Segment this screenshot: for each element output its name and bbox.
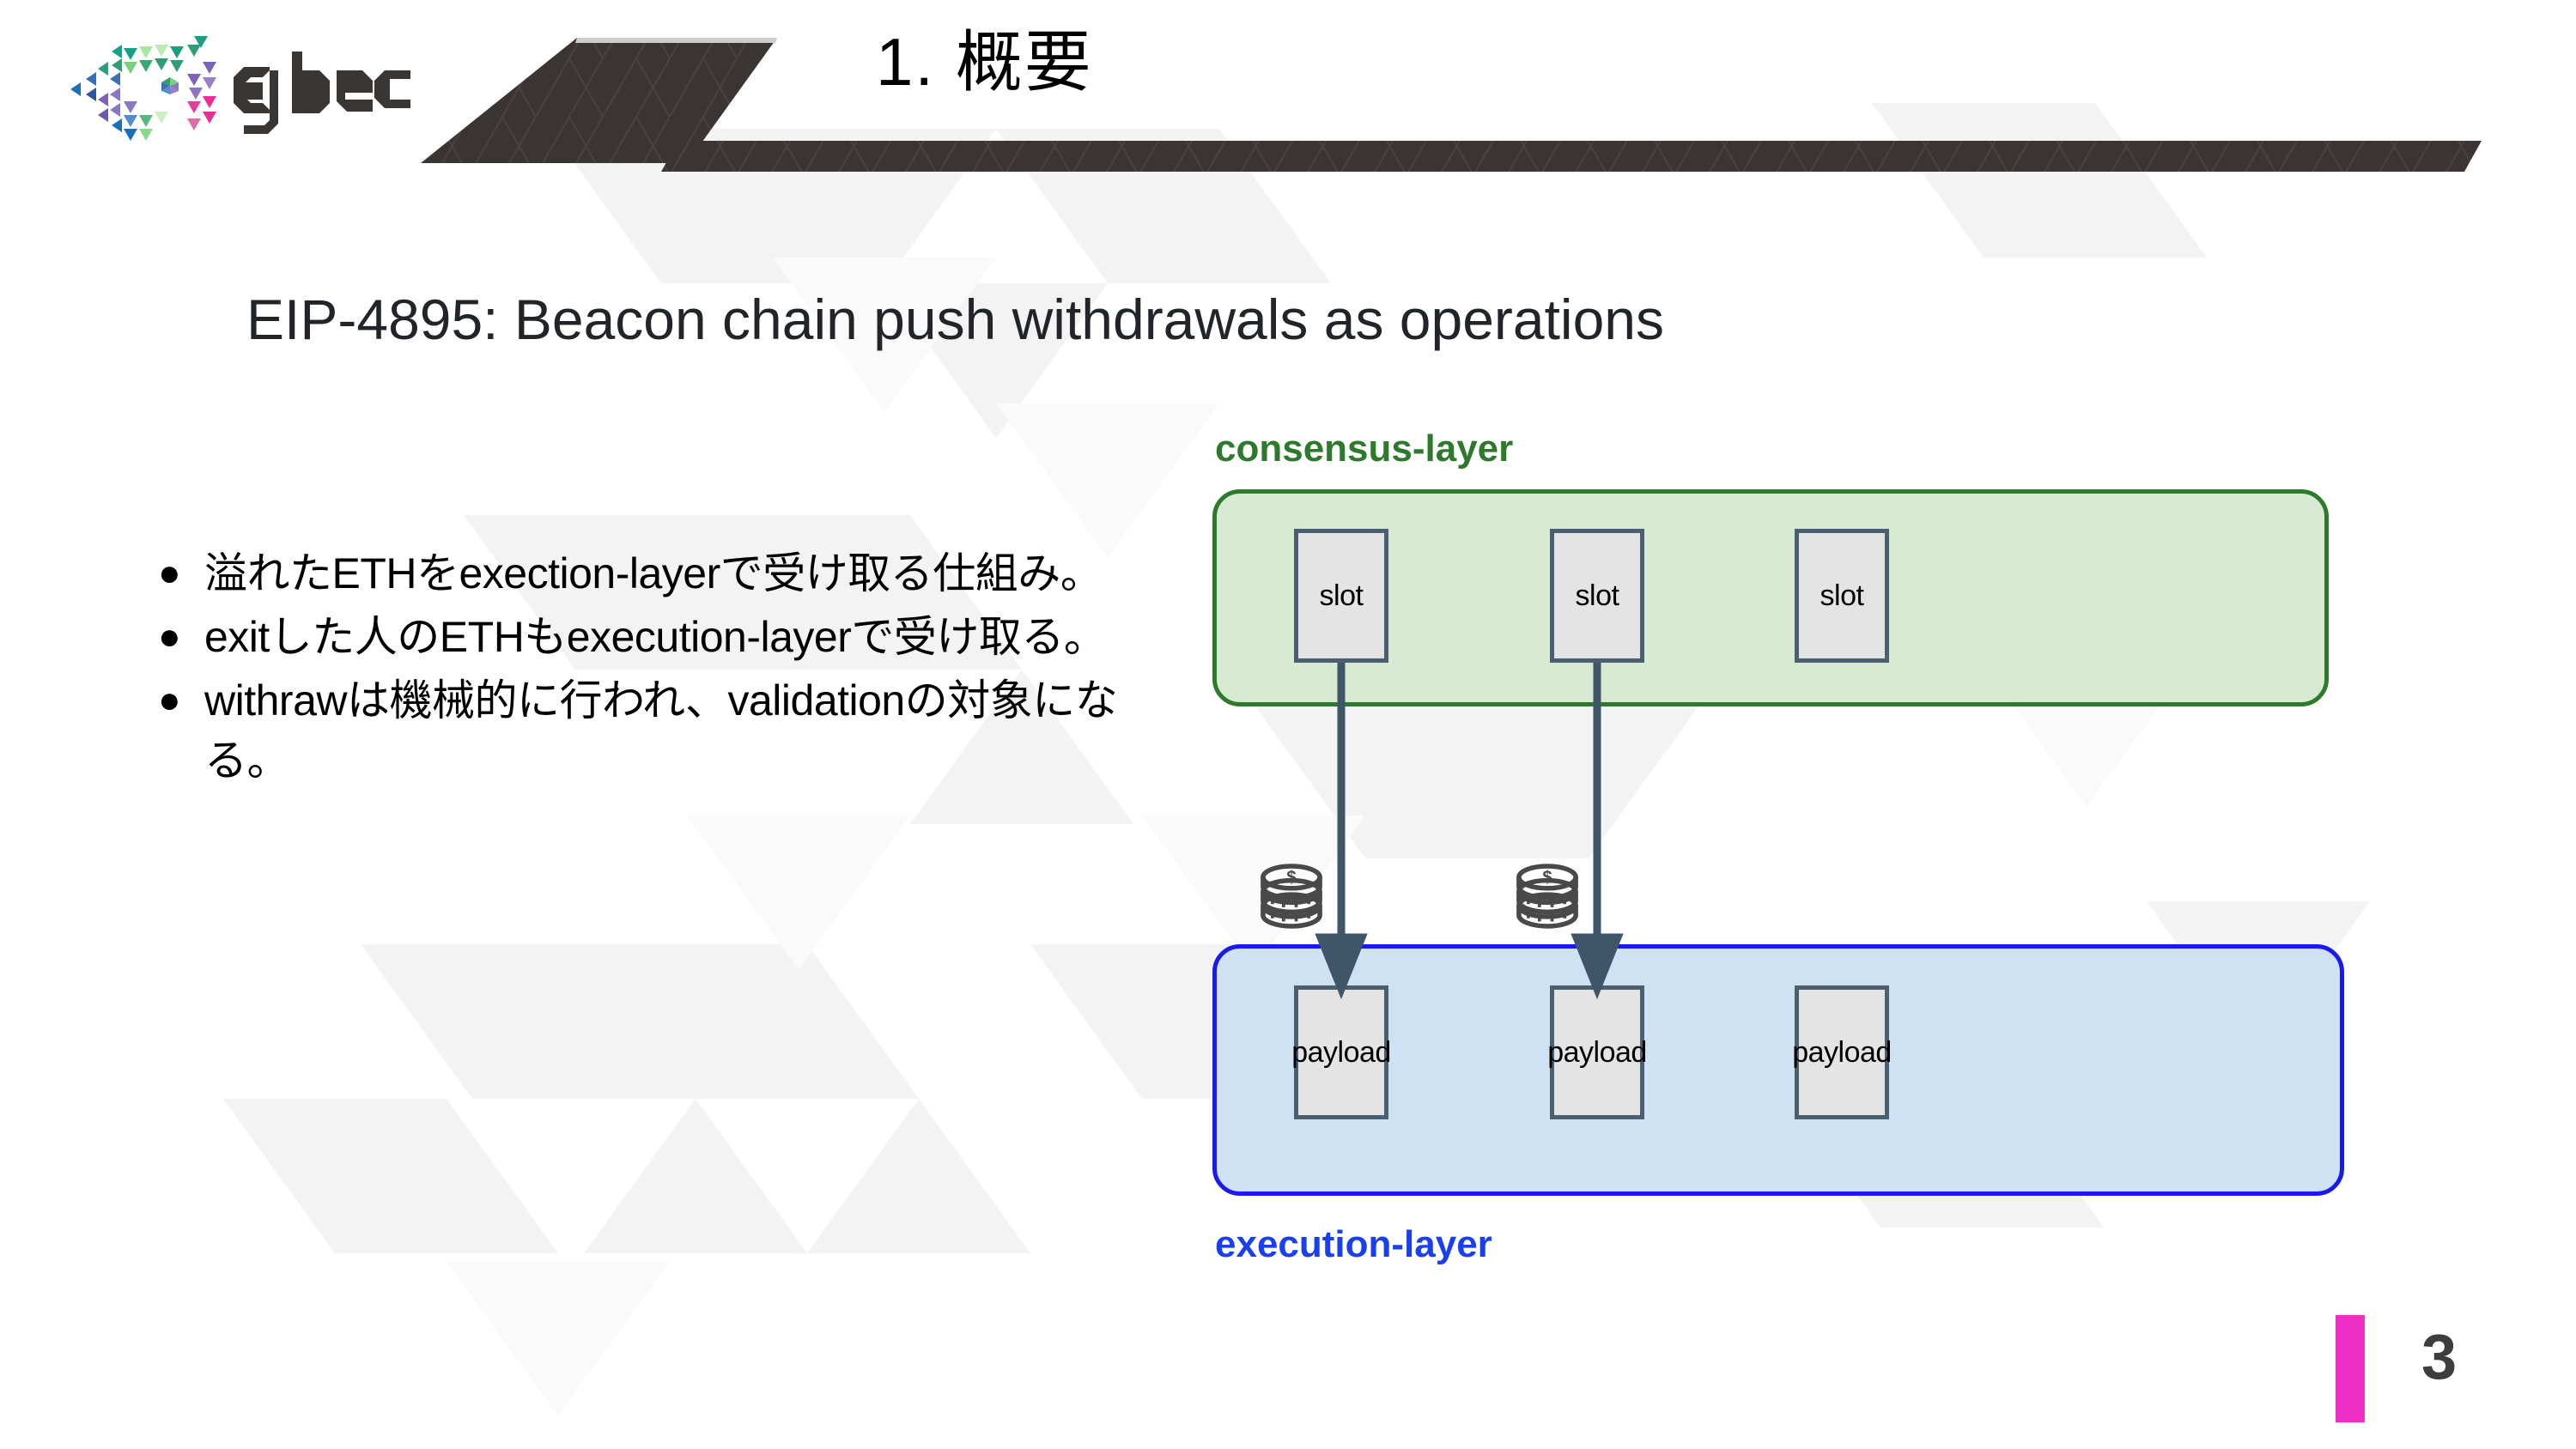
svg-text:$: $ xyxy=(1542,868,1552,887)
bullet-list: ● 溢れたETHをexection-layerで受け取る仕組み。 ● exitし… xyxy=(148,543,1161,794)
coin-stack-icon: $ xyxy=(1252,857,1331,936)
page-title: 1. 概要 xyxy=(876,24,1093,101)
slot-node: slot xyxy=(1795,529,1889,663)
bullet-marker-icon: ● xyxy=(148,543,204,603)
payload-node: payload xyxy=(1550,985,1644,1119)
bullet-text: withrawは機械的に行われ、validationの対象になる。 xyxy=(204,670,1161,791)
bullet-text: exitした人のETHもexecution-layerで受け取る。 xyxy=(204,607,1161,667)
bullet-text: 溢れたETHをexection-layerで受け取る仕組み。 xyxy=(204,543,1161,603)
layer-diagram: consensus-layer slot slot slot payload p… xyxy=(1202,403,2379,1339)
payload-node: payload xyxy=(1795,985,1889,1119)
slot-node: slot xyxy=(1294,529,1388,663)
bullet-marker-icon: ● xyxy=(148,607,204,667)
page-number: 3 xyxy=(2421,1320,2457,1393)
slide-canvas: 1. 概要 EIP-4895: Beacon chain push withdr… xyxy=(0,0,2576,1449)
payload-node: payload xyxy=(1294,985,1388,1119)
consensus-layer-label: consensus-layer xyxy=(1215,427,1513,470)
bullet-marker-icon: ● xyxy=(148,670,204,731)
slide-subtitle: EIP-4895: Beacon chain push withdrawals … xyxy=(246,286,1664,354)
svg-text:$: $ xyxy=(1286,868,1296,887)
list-item: ● exitした人のETHもexecution-layerで受け取る。 xyxy=(148,607,1161,667)
coin-stack-icon: $ xyxy=(1508,857,1587,936)
slot-node: slot xyxy=(1550,529,1644,663)
list-item: ● withrawは機械的に行われ、validationの対象になる。 xyxy=(148,670,1161,791)
accent-bar xyxy=(2336,1315,2365,1422)
execution-layer-label: execution-layer xyxy=(1215,1223,1492,1266)
gbec-logo xyxy=(60,26,507,146)
list-item: ● 溢れたETHをexection-layerで受け取る仕組み。 xyxy=(148,543,1161,603)
